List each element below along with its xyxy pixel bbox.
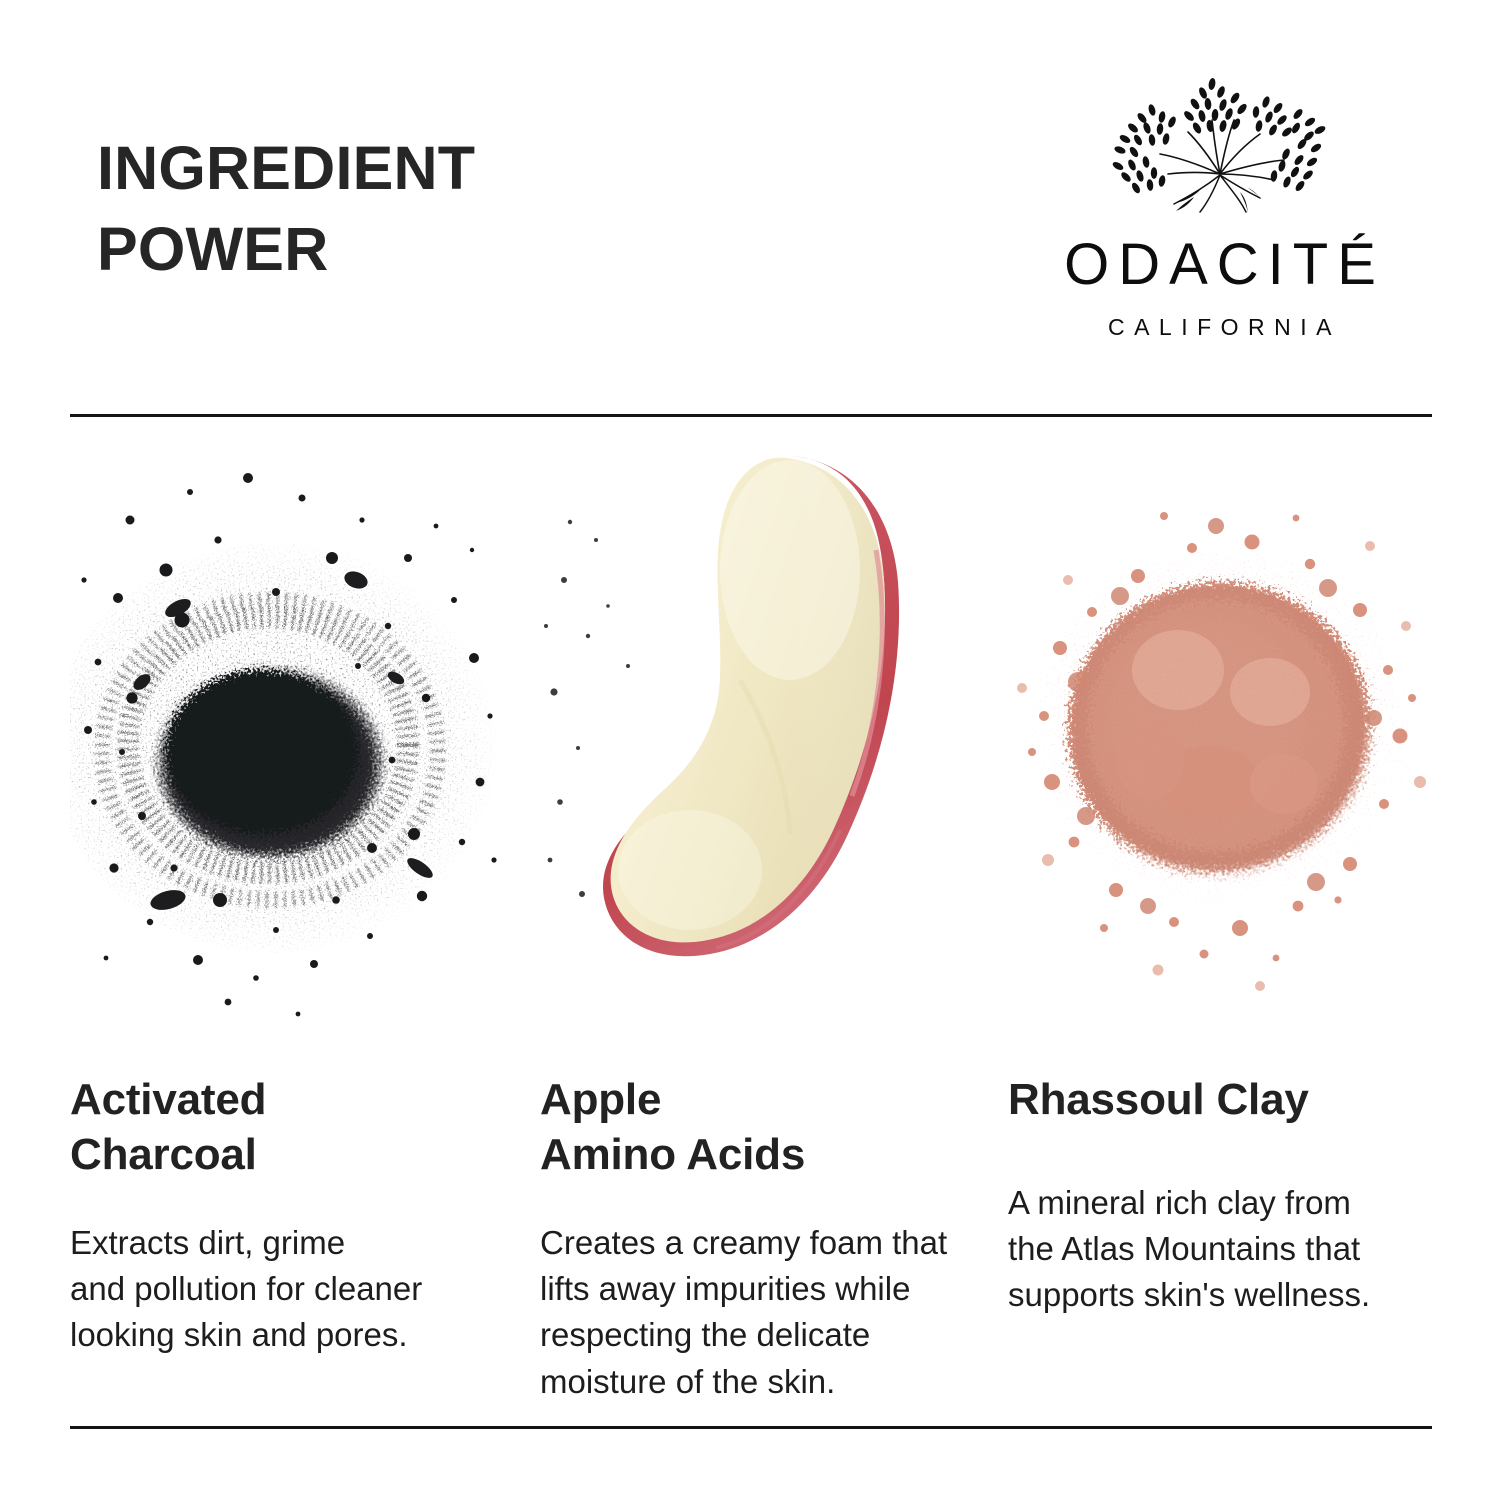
ingredient-body-rhassoul-clay: A mineral rich clay from the Atlas Mount… (1008, 1180, 1438, 1319)
ingredient-heading-apple: Apple Amino Acids (540, 1072, 805, 1183)
dandelion-umbel-icon (1090, 62, 1350, 222)
header: INGREDIENT POWER (0, 0, 1500, 415)
activated-charcoal-powder-image (70, 430, 510, 1060)
ingredient-heading-rhassoul-clay: Rhassoul Clay (1008, 1072, 1309, 1127)
brand-name: ODACITÉ (1010, 236, 1430, 294)
divider-bottom (70, 1426, 1432, 1429)
ingredient-body-apple: Creates a creamy foam that lifts away im… (540, 1220, 995, 1405)
divider-top (70, 414, 1432, 417)
ingredient-column-charcoal: Activated Charcoal Extracts dirt, grime … (70, 430, 510, 1410)
rhassoul-clay-powder-image (1008, 430, 1436, 1060)
brand-tagline: CALIFORNIA (1010, 316, 1430, 339)
page-title: INGREDIENT POWER (97, 128, 475, 289)
ingredient-heading-charcoal: Activated Charcoal (70, 1072, 266, 1183)
apple-slice-image (540, 430, 990, 1060)
ingredient-body-charcoal: Extracts dirt, grime and pollution for c… (70, 1220, 490, 1359)
brand-logo: ODACITÉ CALIFORNIA (1010, 62, 1430, 339)
ingredient-column-rhassoul-clay: Rhassoul Clay A mineral rich clay from t… (1008, 430, 1436, 1410)
ingredient-column-apple: Apple Amino Acids Creates a creamy foam … (540, 430, 990, 1410)
ingredient-columns: Activated Charcoal Extracts dirt, grime … (0, 430, 1500, 1410)
ingredient-power-infographic: INGREDIENT POWER (0, 0, 1500, 1500)
